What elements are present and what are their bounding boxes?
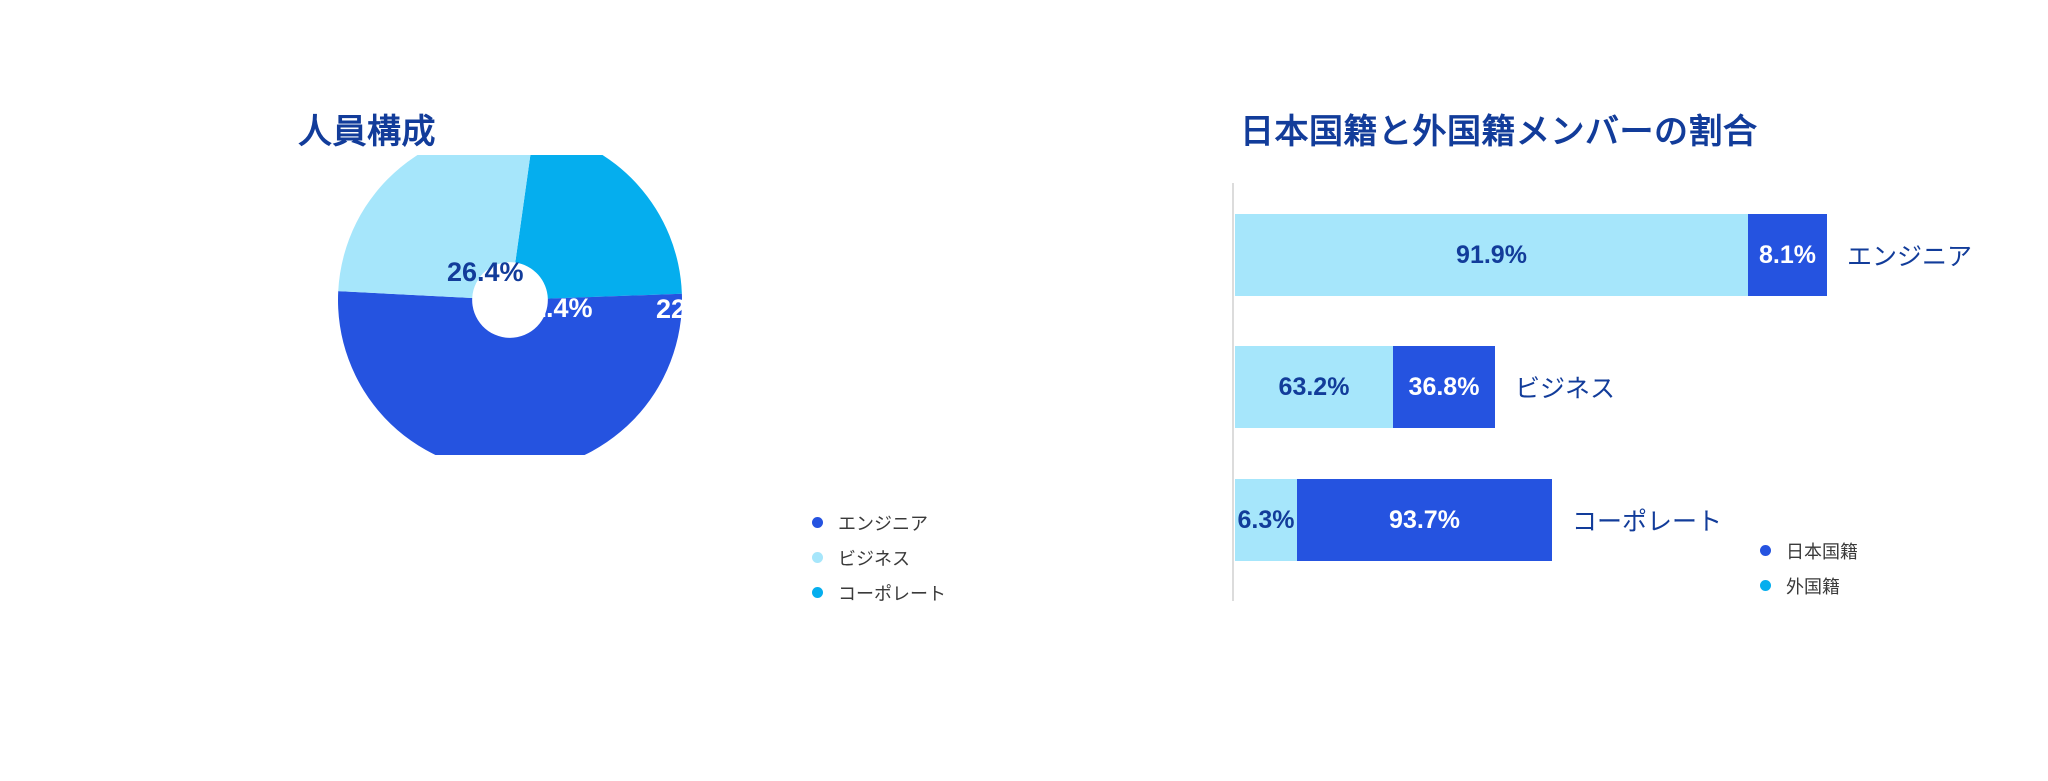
- bar-segment-value: 93.7%: [1389, 506, 1460, 535]
- donut-legend: エンジニア ビジネス コーポレート: [812, 505, 946, 610]
- bar-row-corporate: 6.3% 93.7% コーポレート: [1235, 479, 1722, 561]
- legend-dot-icon: [1760, 545, 1771, 556]
- donut-legend-item-corporate[interactable]: コーポレート: [812, 575, 946, 610]
- donut-slice[interactable]: [338, 291, 682, 455]
- bar-category-label: ビジネス: [1495, 346, 1615, 428]
- stacked-bar-legend: 日本国籍 外国籍: [1760, 533, 1858, 603]
- donut-legend-item-business[interactable]: ビジネス: [812, 540, 946, 575]
- donut-chart-panel: 人員構成 51.4% 26.4% 22.2% エンジニア ビジネス コーポレート: [0, 0, 1050, 781]
- donut-svg: [333, 155, 793, 455]
- donut-legend-label: コーポレート: [838, 580, 946, 606]
- legend-dot-icon: [812, 517, 823, 528]
- donut-chart-graphic: [333, 155, 793, 455]
- bar-segment-japanese[interactable]: 36.8%: [1393, 346, 1495, 428]
- donut-slice[interactable]: [338, 155, 534, 298]
- legend-dot-icon: [812, 587, 823, 598]
- legend-dot-icon: [812, 552, 823, 563]
- donut-chart-title: 人員構成: [298, 104, 436, 153]
- donut-slice[interactable]: [515, 155, 682, 299]
- donut-legend-label: ビジネス: [838, 545, 910, 571]
- slide-canvas: 人員構成 51.4% 26.4% 22.2% エンジニア ビジネス コーポレート: [0, 0, 2048, 781]
- bar-segment-japanese[interactable]: 8.1%: [1748, 214, 1827, 296]
- bar-segment-value: 36.8%: [1409, 373, 1480, 402]
- bar-legend-label: 外国籍: [1786, 573, 1840, 599]
- bar-legend-label: 日本国籍: [1786, 538, 1858, 564]
- bar-legend-item-japanese[interactable]: 日本国籍: [1760, 533, 1858, 568]
- bar-segment-value: 8.1%: [1759, 241, 1816, 270]
- bar-chart-y-axis-line: [1232, 183, 1234, 601]
- donut-legend-label: エンジニア: [838, 510, 928, 536]
- bar-row-business: 63.2% 36.8% ビジネス: [1235, 346, 1615, 428]
- stacked-bar-chart-title: 日本国籍と外国籍メンバーの割合: [1240, 104, 1758, 153]
- bar-category-label: コーポレート: [1552, 479, 1722, 561]
- legend-dot-icon: [1760, 580, 1771, 591]
- bar-segment-foreign[interactable]: 91.9%: [1235, 214, 1748, 296]
- bar-segment-value: 91.9%: [1456, 241, 1527, 270]
- bar-legend-item-foreign[interactable]: 外国籍: [1760, 568, 1858, 603]
- bar-segment-foreign[interactable]: 63.2%: [1235, 346, 1393, 428]
- donut-legend-item-engineer[interactable]: エンジニア: [812, 505, 946, 540]
- bar-segment-value: 6.3%: [1238, 506, 1295, 535]
- bar-category-label: エンジニア: [1827, 214, 1972, 296]
- bar-segment-foreign[interactable]: 6.3%: [1235, 479, 1297, 561]
- bar-row-engineer: 91.9% 8.1% エンジニア: [1235, 214, 1972, 296]
- bar-segment-japanese[interactable]: 93.7%: [1297, 479, 1552, 561]
- bar-segment-value: 63.2%: [1279, 373, 1350, 402]
